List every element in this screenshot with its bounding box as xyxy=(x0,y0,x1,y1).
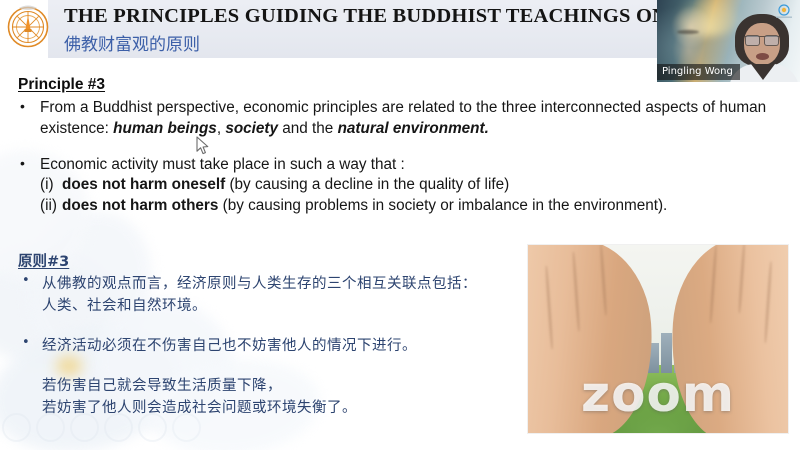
chinese-line-5: 若妨害了他人则会造成社会问题或环境失衡了。 xyxy=(42,396,357,417)
bullet-marker: • xyxy=(22,273,30,288)
emphasis-natural-environment: natural environment. xyxy=(338,120,489,137)
separator-and-the: and the xyxy=(278,120,338,137)
buddhist-organization-emblem-icon xyxy=(5,2,51,50)
bullet-marker: • xyxy=(20,98,25,114)
bullet-item-2: Economic activity must take place in suc… xyxy=(40,154,785,175)
principle-heading-chinese: 原则#3 xyxy=(18,250,69,271)
bullet-item-1: From a Buddhist perspective, economic pr… xyxy=(40,97,785,139)
hands-cupping-tree-and-city-photo: zoom xyxy=(528,245,788,433)
sub-item-ii-marker: (ii) xyxy=(40,197,62,215)
page-title: THE PRINCIPLES GUIDING THE BUDDHIST TEAC… xyxy=(64,5,704,28)
zoom-watermark-logo: zoom xyxy=(581,369,735,419)
chinese-line-1: 从佛教的观点而言，经济原则与人类生存的三个相互关联点包括： xyxy=(42,272,477,293)
glasses-lens-right-icon xyxy=(764,35,779,46)
sub-item-i: (i)does not harm oneself (by causing a d… xyxy=(40,176,785,194)
emphasis-human-beings: human beings xyxy=(113,120,217,137)
presenter-avatar xyxy=(733,14,791,82)
sub-item-ii-rest: (by causing problems in society or imbal… xyxy=(218,197,667,214)
chinese-line-3: 经济活动必须在不伤害自己也不妨害他人的情况下进行。 xyxy=(42,334,417,355)
emphasis-society: society xyxy=(225,120,278,137)
chinese-line-4: 若伤害自己就会导致生活质量下降， xyxy=(42,374,282,395)
bullet-marker: • xyxy=(22,335,30,350)
video-participant-tile[interactable]: Pingling Wong xyxy=(657,0,800,82)
sub-item-i-bold: does not harm oneself xyxy=(62,176,225,193)
chinese-line-2: 人类、社会和自然环境。 xyxy=(42,294,207,315)
participant-name-label: Pingling Wong xyxy=(657,64,740,80)
sub-item-i-marker: (i) xyxy=(40,176,62,194)
buddha-eye-detail xyxy=(677,30,699,34)
bullet-marker: • xyxy=(20,155,25,171)
sub-item-i-rest: (by causing a decline in the quality of … xyxy=(225,176,509,193)
glasses-lens-left-icon xyxy=(745,35,760,46)
organization-watermark-badge-icon xyxy=(773,4,795,20)
presenter-mouth xyxy=(756,53,769,60)
sub-item-ii-bold: does not harm others xyxy=(62,197,218,214)
principle-heading: Principle #3 xyxy=(18,76,105,94)
sub-item-ii: (ii)does not harm others (by causing pro… xyxy=(40,197,785,215)
page-subtitle-chinese: 佛教财富观的原则 xyxy=(64,30,200,55)
mouse-cursor-icon xyxy=(196,136,210,156)
lotus-center-icon xyxy=(56,356,82,376)
decorative-ring-row xyxy=(2,413,201,442)
